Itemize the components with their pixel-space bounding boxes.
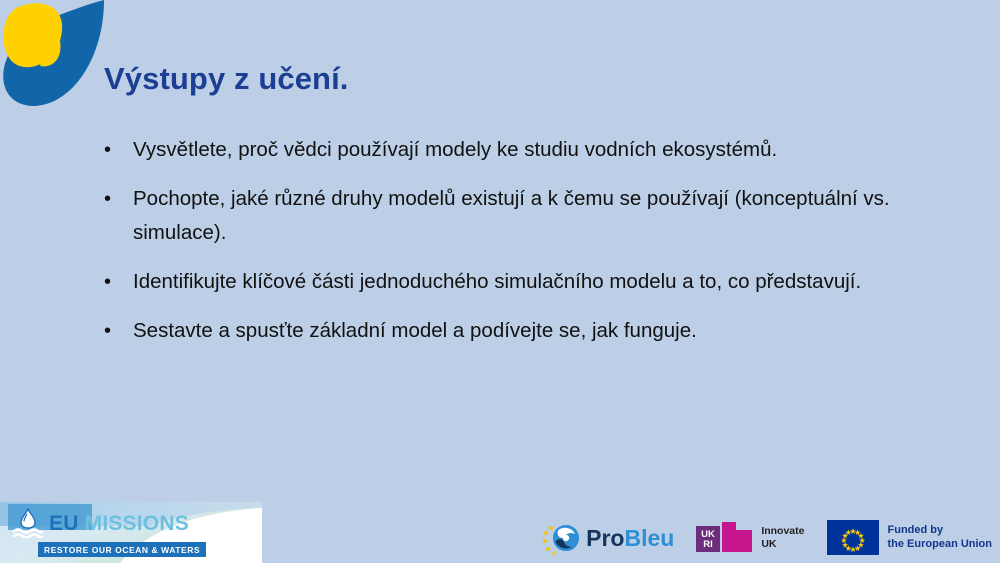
bullet-marker-icon: • bbox=[96, 314, 133, 348]
eu-missions-tagline: RESTORE OUR OCEAN & WATERS bbox=[38, 542, 206, 557]
eu-missions-banner: EU MISSIONS RESTORE OUR OCEAN & WATERS bbox=[0, 502, 262, 563]
probleu-wordmark: ProBleu bbox=[586, 526, 674, 550]
list-item: • Pochopte, jaké různé druhy modelů exis… bbox=[96, 182, 926, 250]
water-droplet-waves-icon bbox=[12, 508, 44, 538]
eu-missions-wordmark: EU MISSIONS bbox=[49, 513, 189, 534]
droplet-leaf-logo-icon bbox=[0, 0, 105, 108]
innovate-uk-text: Innovate UK bbox=[761, 525, 804, 550]
probleu-word-bleu: Bleu bbox=[624, 525, 674, 551]
eu-funded-line2: the European Union bbox=[888, 538, 993, 552]
eu-funded-text: Funded by the European Union bbox=[888, 524, 993, 551]
eu-missions-wordmark-row: EU MISSIONS bbox=[12, 508, 192, 538]
eu-missions-lockup: EU MISSIONS RESTORE OUR OCEAN & WATERS bbox=[12, 508, 192, 558]
eu-missions-word-missions: MISSIONS bbox=[85, 512, 189, 535]
list-item-text: Sestavte a spusťte základní model a podí… bbox=[133, 314, 893, 348]
probleu-logo: ProBleu bbox=[542, 521, 674, 555]
probleu-word-pro: Pro bbox=[586, 525, 624, 551]
bullet-marker-icon: • bbox=[96, 265, 133, 299]
list-item-text: Vysvětlete, proč vědci používají modely … bbox=[133, 133, 893, 167]
ukri-blocks-icon: UK RI bbox=[696, 522, 754, 554]
probleu-swirl-icon bbox=[542, 521, 582, 555]
svg-text:RI: RI bbox=[704, 539, 714, 550]
eu-flag-icon bbox=[827, 520, 879, 555]
list-item-text: Pochopte, jaké různé druhy modelů existu… bbox=[133, 182, 893, 250]
list-item: • Vysvětlete, proč vědci používají model… bbox=[96, 133, 926, 167]
footer-logo-strip: ProBleu UK RI Innovate UK bbox=[542, 520, 992, 555]
innovate-uk-line1: Innovate bbox=[761, 525, 804, 538]
bullet-marker-icon: • bbox=[96, 133, 133, 167]
list-item-text: Identifikujte klíčové části jednoduchého… bbox=[133, 265, 893, 299]
learning-outcomes-list: • Vysvětlete, proč vědci používají model… bbox=[96, 133, 926, 363]
list-item: • Identifikujte klíčové části jednoduché… bbox=[96, 265, 926, 299]
eu-funded-line1: Funded by bbox=[888, 524, 993, 538]
eu-missions-word-eu: EU bbox=[49, 512, 79, 535]
page-title: Výstupy z učení. bbox=[104, 61, 349, 97]
eu-funded-logo: Funded by the European Union bbox=[827, 520, 993, 555]
slide-canvas: Výstupy z učení. • Vysvětlete, proč vědc… bbox=[0, 0, 1000, 563]
list-item: • Sestavte a spusťte základní model a po… bbox=[96, 314, 926, 348]
innovate-uk-logo: UK RI Innovate UK bbox=[696, 522, 804, 554]
bullet-marker-icon: • bbox=[96, 182, 133, 216]
innovate-uk-line2: UK bbox=[761, 538, 804, 551]
